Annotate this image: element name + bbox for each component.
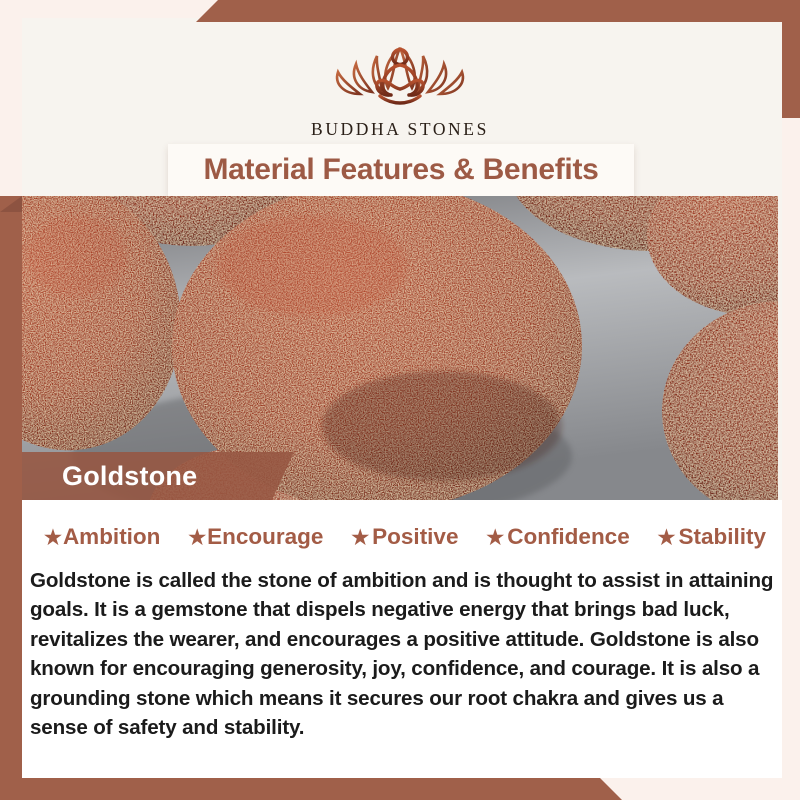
star-icon: ★ — [658, 528, 676, 548]
product-info-poster: BUDDHA STONES Material Features & Benefi… — [0, 0, 800, 800]
keyword-label: Positive — [372, 524, 458, 550]
star-icon: ★ — [44, 528, 62, 548]
keyword-item-2: ★Positive — [351, 524, 458, 550]
keyword-item-4: ★Stability — [658, 524, 766, 550]
keyword-label: Confidence — [507, 524, 630, 550]
keyword-item-0: ★Ambition — [44, 524, 160, 550]
keyword-item-3: ★Confidence — [486, 524, 629, 550]
lotus-meditation-icon — [314, 26, 486, 112]
brand-name: BUDDHA STONES — [311, 119, 489, 140]
keyword-label: Ambition — [63, 524, 160, 550]
brand-logo: BUDDHA STONES — [0, 26, 800, 140]
header-banner: Material Features & Benefits — [168, 144, 634, 196]
stone-name: Goldstone — [62, 461, 197, 492]
keyword-list: ★Ambition ★Encourage ★Positive ★Confiden… — [44, 524, 772, 550]
stone-description: Goldstone is called the stone of ambitio… — [30, 566, 774, 742]
keyword-item-1: ★Encourage — [188, 524, 323, 550]
star-icon: ★ — [351, 528, 369, 548]
keyword-label: Encourage — [207, 524, 323, 550]
stone-name-label: Goldstone — [22, 452, 294, 500]
page-title: Material Features & Benefits — [203, 153, 598, 187]
star-icon: ★ — [486, 528, 504, 548]
description-panel: ★Ambition ★Encourage ★Positive ★Confiden… — [22, 500, 782, 778]
star-icon: ★ — [188, 528, 206, 548]
keyword-label: Stability — [678, 524, 766, 550]
decorative-band-left — [0, 196, 22, 800]
